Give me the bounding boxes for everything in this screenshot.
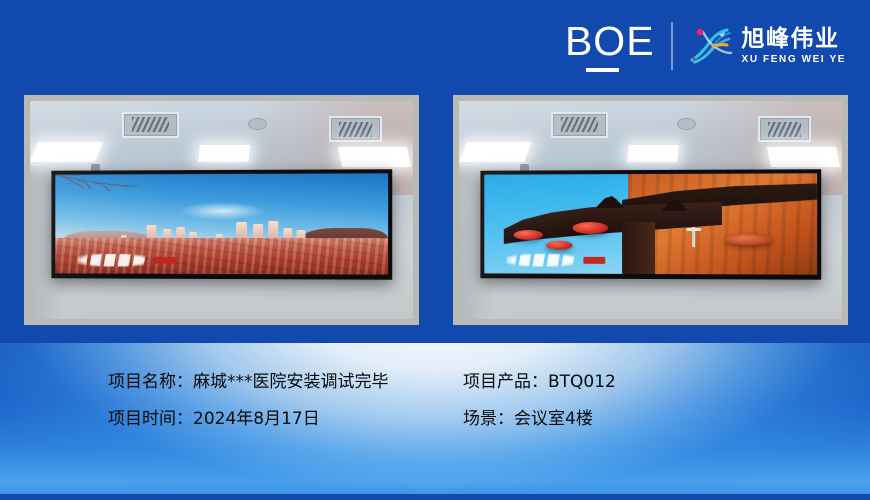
screen-temple-beam — [622, 222, 655, 274]
ceiling-panel-light — [198, 145, 250, 162]
screen-watermark-badge — [155, 257, 177, 264]
screen-watermark — [507, 253, 605, 266]
ceiling-vent-icon — [758, 116, 812, 142]
ceiling-vent-icon — [329, 116, 383, 142]
photo-right-image — [459, 101, 842, 319]
info-scene: 场景：会议室4楼 — [463, 408, 616, 431]
screen-lamp-post — [682, 227, 705, 247]
screen-red-lantern — [514, 230, 543, 240]
screen-watermark — [78, 253, 176, 266]
xufeng-chinese-name: 旭峰伟业 — [742, 27, 846, 51]
poster-canvas: BOE 旭峰伟业 XU FENG WEI YE — [0, 0, 870, 500]
xufeng-logo: 旭峰伟业 XU FENG WEI YE — [689, 26, 846, 66]
photo-right — [453, 95, 848, 325]
info-panel: 项目名称：麻城***医院安装调试完毕 项目产品：BTQ012 项目时间：2024… — [0, 343, 870, 494]
boe-logo: BOE — [565, 21, 655, 72]
ceiling-panel-light — [338, 147, 411, 167]
xufeng-bird-mark-icon — [689, 26, 733, 66]
xufeng-text-block: 旭峰伟业 XU FENG WEI YE — [742, 27, 846, 65]
ceiling-panel-light — [459, 142, 532, 162]
ceiling-panel-light — [767, 147, 840, 167]
led-display-wall — [481, 169, 822, 280]
screen-watermark-badge — [584, 257, 606, 264]
led-display-wall — [52, 169, 393, 280]
led-screen-content — [55, 173, 388, 274]
led-screen-content — [484, 173, 817, 274]
screen-red-lantern — [546, 241, 572, 250]
boe-wordmark: BOE — [565, 21, 655, 64]
info-grid: 项目名称：麻城***医院安装调试完毕 项目产品：BTQ012 项目时间：2024… — [108, 371, 616, 431]
screen-red-lantern — [726, 234, 773, 245]
brand-header: BOE 旭峰伟业 XU FENG WEI YE — [565, 18, 846, 74]
screen-red-lantern — [573, 222, 609, 234]
ceiling-panel-light — [627, 145, 679, 162]
xufeng-english-name: XU FENG WEI YE — [742, 54, 846, 65]
info-project-name: 项目名称：麻城***医院安装调试完毕 — [108, 371, 463, 394]
ceiling-vent-icon — [122, 112, 179, 138]
logo-divider — [671, 22, 673, 70]
boe-underline-accent — [586, 68, 619, 72]
info-project-product: 项目产品：BTQ012 — [463, 371, 616, 394]
ceiling-panel-light — [30, 142, 103, 162]
photo-left-image — [30, 101, 413, 319]
info-project-time: 项目时间：2024年8月17日 — [108, 408, 463, 431]
screen-tree-branch — [55, 173, 166, 210]
photo-left — [24, 95, 419, 325]
screen-watermark-text — [78, 253, 150, 266]
screen-watermark-text — [507, 253, 579, 266]
ceiling-vent-icon — [551, 112, 608, 138]
screen-haze — [180, 202, 267, 220]
